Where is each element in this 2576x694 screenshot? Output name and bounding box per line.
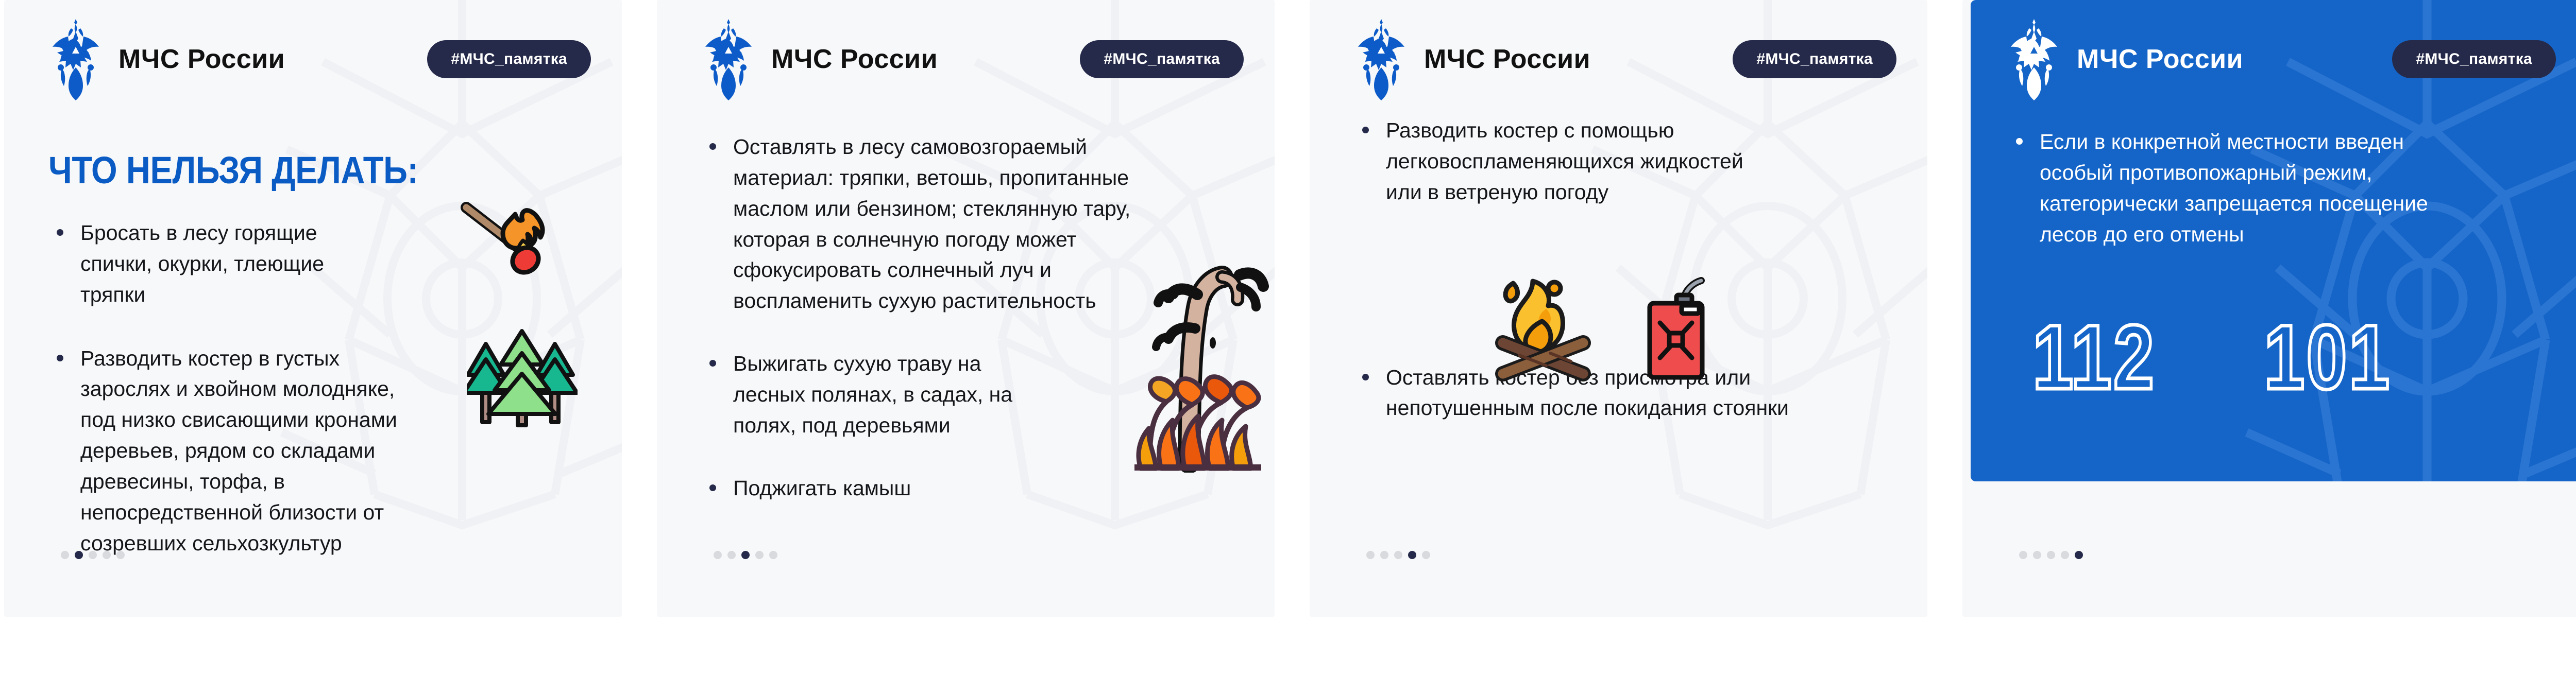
list-item: Бросать в лесу горящие спички, окурки, т… [48,218,368,310]
pagination-dots[interactable] [714,551,777,559]
card-body: Разводить костер с помощью легковоспламе… [1310,118,1927,617]
list-item: Выжигать сухую траву на лесных полянах, … [701,349,1031,441]
pagination-dot[interactable] [741,551,750,559]
pagination-dot[interactable] [2019,551,2027,559]
list-item: Разводить костер с помощью легковоспламе… [1354,115,1782,208]
emergency-numbers: 112 101 [2008,311,2550,403]
rules-list: Оставлять в лесу самовозгораемый материа… [701,132,1230,504]
page-title: ЧТО НЕЛЬЗЯ ДЕЛАТЬ: [48,148,514,192]
list-item: Оставлять в лесу самовозгораемый материа… [701,132,1131,317]
emergency-number-112: 112 [2032,311,2156,403]
blue-highlight-panel: МЧС России #МЧС_памятка Если в конкретно… [1971,0,2576,481]
memo-card-1[interactable]: МЧС России #МЧС_памятка ЧТО НЕЛЬЗЯ ДЕЛАТ… [4,0,622,617]
mchs-eagle-emblem-icon [49,18,102,100]
memo-card-4[interactable]: МЧС России #МЧС_памятка Если в конкретно… [1962,0,2576,617]
hashtag-badge[interactable]: #МЧС_памятка [1733,40,1896,78]
card-body: ЧТО НЕЛЬЗЯ ДЕЛАТЬ: Бросать в лесу горящи… [4,118,622,617]
pagination-dot[interactable] [1394,551,1402,559]
list-item: Поджигать камыш [701,473,1031,504]
memo-card-deck: МЧС России #МЧС_памятка ЧТО НЕЛЬЗЯ ДЕЛАТ… [0,0,2576,694]
memo-card-2[interactable]: МЧС России #МЧС_памятка Оставлять в лесу… [657,0,1275,617]
rules-list: Если в конкретной местности введен особы… [2008,127,2550,250]
pagination-dot[interactable] [116,551,125,559]
pagination-dot[interactable] [2061,551,2069,559]
pagination-dot[interactable] [2047,551,2055,559]
card-header: МЧС России #МЧС_памятка [4,0,622,118]
pagination-dot[interactable] [1366,551,1375,559]
rules-list-secondary: Оставлять костер без присмотра или непот… [1354,362,1883,424]
pagination-dot[interactable] [769,551,777,559]
card-header: МЧС России #МЧС_памятка [657,0,1275,118]
pagination-dot[interactable] [2075,551,2083,559]
pagination-dots[interactable] [1366,551,1430,559]
hashtag-badge[interactable]: #МЧС_памятка [1080,40,1244,78]
mchs-eagle-emblem-icon [1355,18,1408,100]
card-body: Если в конкретной местности введен особы… [1971,118,2576,481]
pagination-dots[interactable] [2019,551,2083,559]
pagination-dots[interactable] [61,551,125,559]
list-item: Разводить костер в густых зарослях и хво… [48,343,399,559]
pagination-dot[interactable] [755,551,764,559]
pagination-dot[interactable] [1380,551,1388,559]
brand-name: МЧС России [771,44,938,75]
brand-name: МЧС России [2077,44,2243,75]
card-header: МЧС России #МЧС_памятка [1971,0,2576,118]
list-item: Если в конкретной местности введен особы… [2008,127,2471,250]
pagination-dot[interactable] [103,551,111,559]
pagination-dot[interactable] [1422,551,1430,559]
pagination-dot[interactable] [727,551,736,559]
hashtag-badge[interactable]: #МЧС_памятка [427,40,591,78]
list-item: Оставлять костер без присмотра или непот… [1354,362,1807,424]
emergency-number-101: 101 [2264,311,2391,403]
rules-list: Бросать в лесу горящие спички, окурки, т… [48,218,578,559]
pagination-dot[interactable] [89,551,97,559]
card-body: Оставлять в лесу самовозгораемый материа… [657,118,1275,617]
pagination-dot[interactable] [75,551,83,559]
pagination-dot[interactable] [2033,551,2041,559]
card-header: МЧС России #МЧС_памятка [1310,0,1927,118]
mchs-eagle-emblem-icon [702,18,755,100]
memo-card-3[interactable]: МЧС России #МЧС_памятка Разводить костер… [1310,0,1927,617]
rules-list: Разводить костер с помощью легковоспламе… [1354,115,1883,208]
pagination-dot[interactable] [61,551,69,559]
brand-name: МЧС России [118,44,285,75]
pagination-dot[interactable] [714,551,722,559]
pagination-dot[interactable] [1408,551,1416,559]
brand-name: МЧС России [1424,44,1590,75]
hashtag-badge[interactable]: #МЧС_памятка [2392,40,2556,78]
mchs-eagle-emblem-icon [2008,18,2060,100]
